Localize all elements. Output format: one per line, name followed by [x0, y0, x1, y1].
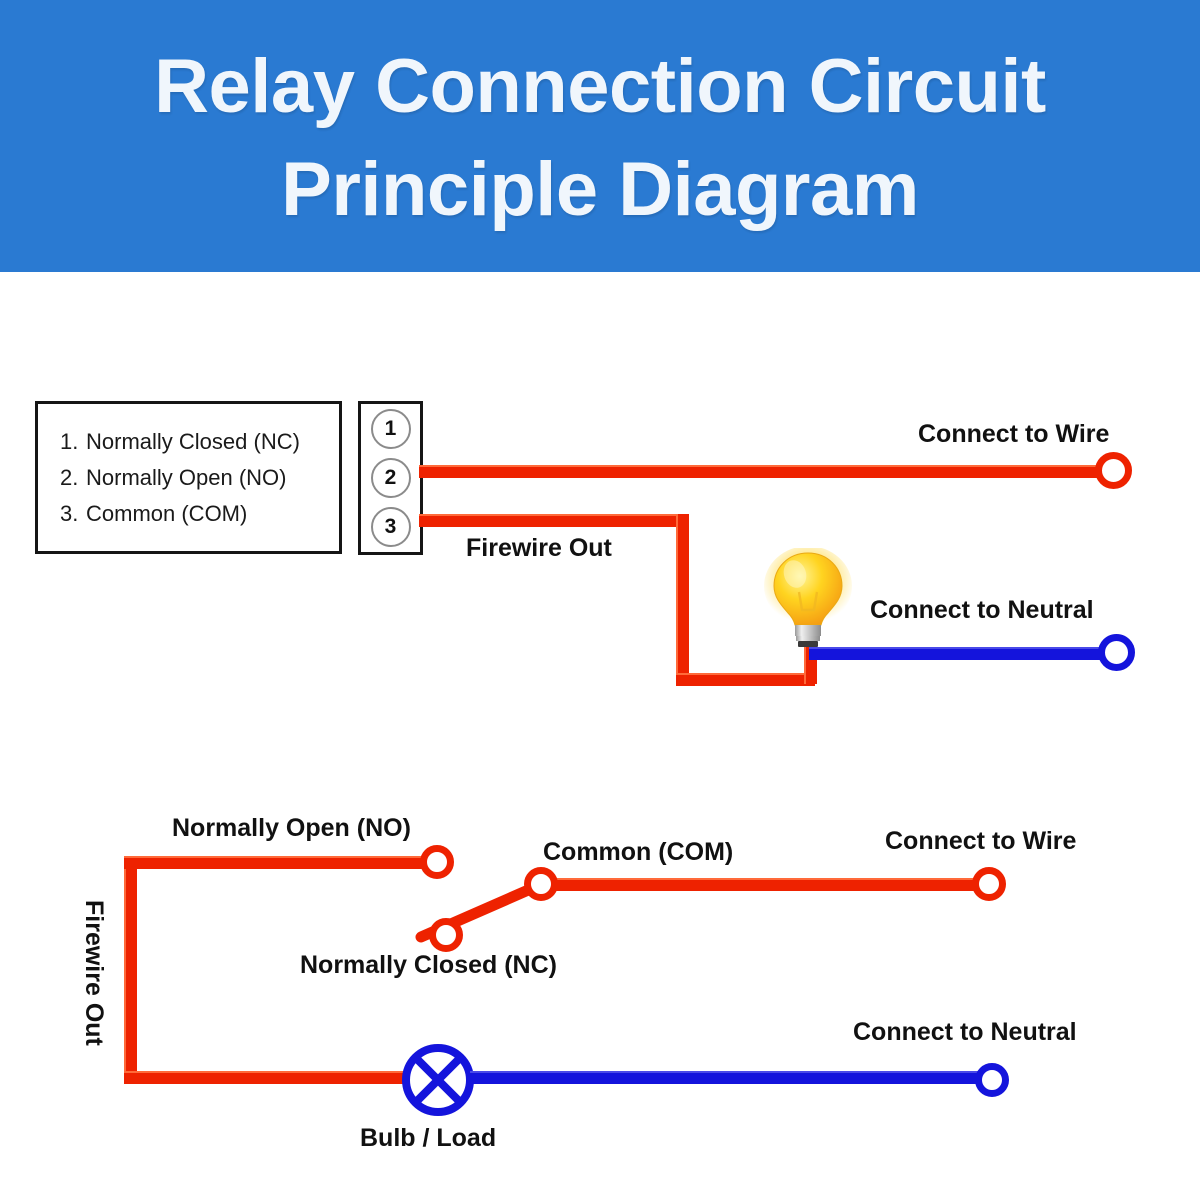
- page-title-line-1: Relay Connection Circuit: [154, 35, 1046, 138]
- wire-pin2-to-live-terminal: [419, 465, 1111, 478]
- legend-item-number: 3.: [60, 503, 86, 525]
- crossed-circle-lamp-icon: [400, 1042, 476, 1123]
- legend-item: 2. Normally Open (NO): [60, 467, 339, 489]
- label-normally-open: Normally Open (NO): [172, 814, 411, 843]
- label-connect-to-wire-bottom: Connect to Wire: [885, 827, 1076, 856]
- legend-item-label: Common (COM): [86, 503, 247, 525]
- diagram-page: Relay Connection Circuit Principle Diagr…: [0, 0, 1200, 1200]
- legend-item-label: Normally Open (NO): [86, 467, 286, 489]
- legend-item-number: 2.: [60, 467, 86, 489]
- label-common: Common (COM): [543, 838, 733, 867]
- wire-bottom-horizontal-to-bulb: [676, 673, 815, 686]
- wire-firewire-to-lamp: [124, 1071, 409, 1084]
- neutral-wire-ring-terminal-bottom: [975, 1063, 1009, 1097]
- label-connect-to-neutral-bottom: Connect to Neutral: [853, 1018, 1077, 1047]
- terminal-pin-3: 3: [371, 507, 411, 547]
- legend-item: 3. Common (COM): [60, 503, 339, 525]
- wire-lamp-to-neutral-terminal: [470, 1071, 992, 1084]
- terminal-pin-2: 2: [371, 458, 411, 498]
- terminal-pin-1: 1: [371, 409, 411, 449]
- wire-neutral-top: [809, 647, 1105, 660]
- page-title-line-2: Principle Diagram: [281, 138, 919, 241]
- title-banner: Relay Connection Circuit Principle Diagr…: [0, 0, 1200, 272]
- wire-firewire-trunk-vertical: [124, 856, 137, 1082]
- label-normally-closed: Normally Closed (NC): [300, 951, 557, 980]
- legend-item-label: Normally Closed (NC): [86, 431, 300, 453]
- light-bulb-icon: [762, 548, 854, 653]
- label-connect-to-neutral-top: Connect to Neutral: [870, 596, 1094, 625]
- wire-pin3-vertical-down: [676, 514, 689, 684]
- label-firewire-out-top: Firewire Out: [466, 534, 612, 563]
- live-wire-ring-terminal-bottom: [972, 867, 1006, 901]
- wire-common-to-live-terminal: [550, 878, 990, 891]
- relay-pin-legend-box: 1. Normally Closed (NC) 2. Normally Open…: [35, 401, 342, 554]
- common-contact-ring: [524, 867, 558, 901]
- label-connect-to-wire-top: Connect to Wire: [918, 420, 1109, 449]
- label-firewire-out-bottom: Firewire Out: [79, 900, 108, 1046]
- normally-closed-contact-ring: [429, 918, 463, 952]
- label-bulb-load: Bulb / Load: [360, 1124, 496, 1153]
- wire-pin3-horizontal: [419, 514, 687, 527]
- neutral-wire-ring-terminal-top: [1098, 634, 1135, 671]
- legend-item: 1. Normally Closed (NC): [60, 431, 339, 453]
- relay-terminal-block: 1 2 3: [358, 401, 423, 555]
- legend-item-number: 1.: [60, 431, 86, 453]
- live-wire-ring-terminal-top: [1095, 452, 1132, 489]
- wire-to-normally-open-contact: [124, 856, 429, 869]
